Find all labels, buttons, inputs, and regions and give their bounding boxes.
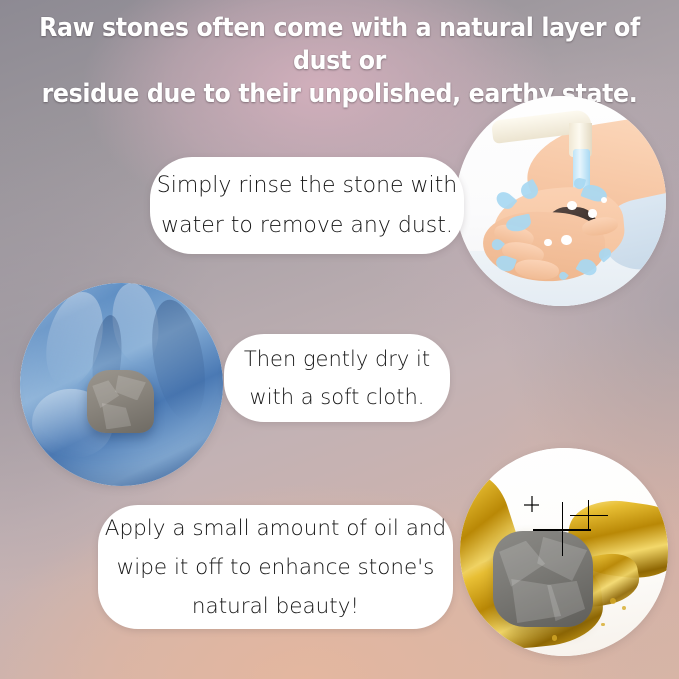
oil-bead (610, 598, 616, 604)
callout-step-rinse: Simply rinse the stone with water to rem… (150, 157, 464, 254)
image-hands-rinsing-stone (456, 96, 666, 306)
infographic-poster: Raw stones often come with a natural lay… (0, 0, 679, 679)
sparkle-star (562, 502, 563, 556)
foam-bubble (588, 209, 596, 217)
image-stone-on-cloth (20, 283, 223, 486)
callout-step-dry: Then gently dry it with a soft cloth. (224, 334, 450, 422)
image-stone-with-oil (460, 448, 668, 656)
foam-bubble (561, 235, 572, 246)
sparkle-star-small (588, 500, 589, 529)
gray-stone (493, 531, 593, 627)
sparkle-star-tiny (531, 496, 532, 513)
foam-bubble (544, 239, 551, 246)
oil-bead (552, 635, 557, 640)
stone-facet (102, 403, 131, 429)
callout-step-oil: Apply a small amount of oil and wipe it … (98, 505, 453, 629)
stone-facet (115, 375, 146, 400)
gray-stone (87, 370, 154, 433)
